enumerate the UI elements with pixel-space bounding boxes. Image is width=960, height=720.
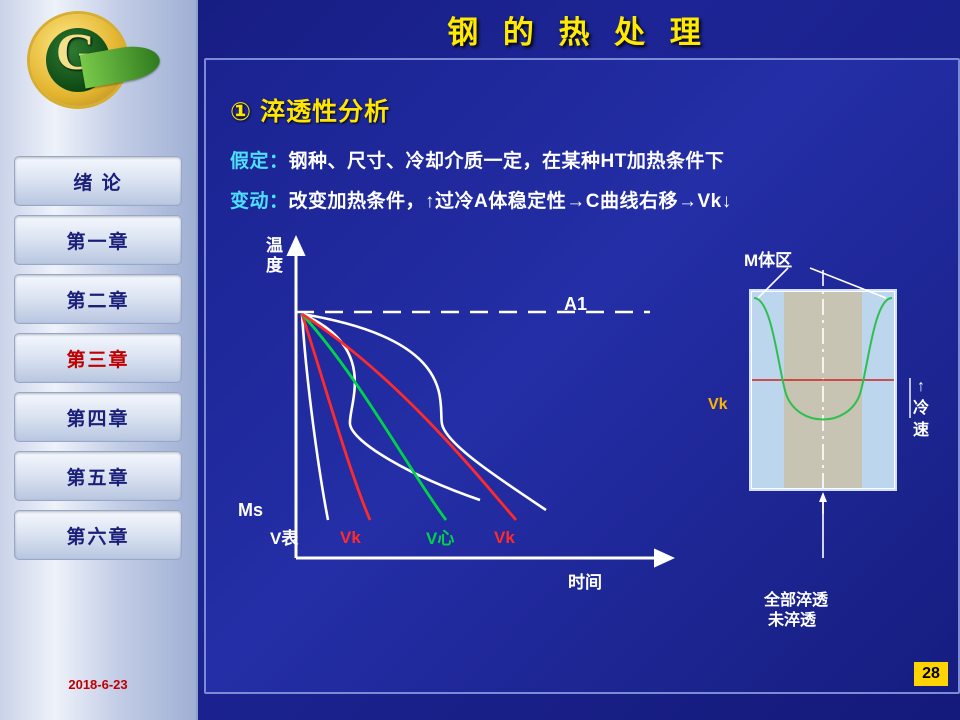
ttt-chart-svg [230, 228, 700, 608]
gear-icon: G [24, 8, 142, 112]
slide-root: G 绪 论 第一章 第二章 第三章 第四章 第五章 第六章 2018-6-23 … [0, 0, 960, 720]
section-heading: ① 淬透性分析 [230, 92, 390, 128]
sidebar-nav: 绪 论 第一章 第二章 第三章 第四章 第五章 第六章 [14, 156, 182, 569]
m-zone-label: M体区 [744, 246, 792, 271]
sidebar-item-label: 第一章 [66, 227, 129, 254]
assumption-text: 钢种、尺寸、冷却介质一定，在某种HT加热条件下 [289, 151, 725, 172]
y-axis-label: 温度 [266, 236, 286, 276]
assumption-line: 假定：钢种、尺寸、冷却介质一定，在某种HT加热条件下 [230, 146, 724, 173]
page-title: 钢 的 热 处 理 [196, 0, 960, 58]
sidebar-item-6[interactable]: 第六章 [14, 510, 182, 560]
sidebar-item-1[interactable]: 第一章 [14, 215, 182, 265]
variation-line: 变动：改变加热条件，↑过冷A体稳定性→C曲线右移→Vk↓ [230, 186, 732, 213]
variation-label: 变动： [230, 191, 289, 212]
sidebar-item-label: 绪 论 [73, 168, 122, 195]
sidebar-item-label: 第五章 [66, 463, 129, 490]
vk-right-label: Vk [494, 528, 515, 548]
logo: G [16, 8, 166, 118]
variation-text: 改变加热条件，↑过冷A体稳定性→C曲线右移→Vk↓ [289, 191, 732, 212]
vk-left-label: Vk [340, 528, 361, 548]
sidebar-item-5[interactable]: 第五章 [14, 451, 182, 501]
content-panel: ① 淬透性分析 假定：钢种、尺寸、冷却介质一定，在某种HT加热条件下 变动：改变… [204, 58, 960, 694]
sidebar-item-label: 第六章 [66, 522, 129, 549]
sidebar-item-label: 第三章 [66, 345, 129, 372]
sidebar-item-2[interactable]: 第二章 [14, 274, 182, 324]
a1-label: A1 [564, 294, 587, 315]
not-hardened-label: 未淬透 [768, 606, 816, 630]
v-surface-label: V表 [270, 524, 298, 549]
sidebar-item-0[interactable]: 绪 论 [14, 156, 182, 206]
specimen-diagram: M体区 Vk ↑冷速 全部淬透 未淬透 [714, 228, 944, 648]
ttt-chart: 温度 时间 A1 Ms V表 Vk V心 Vk [230, 228, 700, 608]
sidebar-item-3[interactable]: 第三章 [14, 333, 182, 383]
x-axis-label: 时间 [568, 568, 602, 593]
sidebar-item-4[interactable]: 第四章 [14, 392, 182, 442]
specimen-vk-label: Vk [708, 396, 728, 414]
slide-date: 2018-6-23 [14, 677, 182, 692]
ms-label: Ms [238, 500, 263, 521]
sidebar: G 绪 论 第一章 第二章 第三章 第四章 第五章 第六章 2018-6-23 [0, 0, 198, 720]
assumption-label: 假定： [230, 151, 289, 172]
sidebar-item-label: 第四章 [66, 404, 129, 431]
page-number: 28 [914, 662, 948, 686]
sidebar-item-label: 第二章 [66, 286, 129, 313]
cooling-rate-label: ↑冷速 [910, 376, 932, 442]
v-core-label: V心 [426, 524, 454, 549]
